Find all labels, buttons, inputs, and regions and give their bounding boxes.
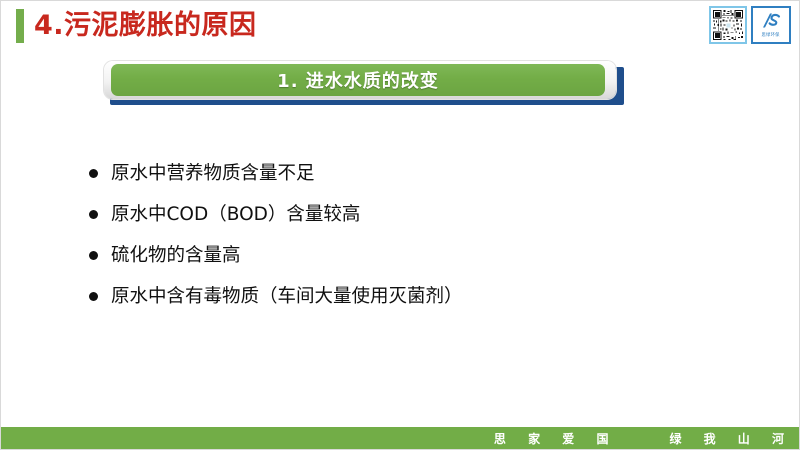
bullet-dot-icon	[89, 169, 98, 178]
bullet-list: 原水中营养物质含量不足 原水中COD（BOD）含量较高 硫化物的含量高 原水中含…	[89, 161, 749, 325]
list-item: 硫化物的含量高	[89, 243, 749, 284]
banner-inner-plate: 1. 进水水质的改变	[104, 61, 616, 99]
footer-slogan-left: 思 家 爱 国	[494, 430, 618, 447]
company-logo-icon	[760, 12, 782, 31]
slide-canvas: 4.污泥膨胀的原因	[0, 0, 800, 450]
list-item: 原水中COD（BOD）含量较高	[89, 202, 749, 243]
list-item-text: 原水中COD（BOD）含量较高	[111, 202, 360, 227]
company-logo-text: 思绿环保	[762, 32, 780, 38]
bullet-dot-icon	[89, 292, 98, 301]
footer-bar: 思 家 爱 国 绿 我 山 河	[1, 427, 800, 449]
section-banner: 1. 进水水质的改变	[104, 61, 624, 105]
qr-code-glyph	[712, 9, 744, 41]
list-item: 原水中含有毒物质（车间大量使用灭菌剂）	[89, 284, 749, 325]
bullet-dot-icon	[89, 210, 98, 219]
banner-green-pill: 1. 进水水质的改变	[111, 64, 605, 96]
title-accent-bar	[16, 9, 24, 43]
company-logo[interactable]: 思绿环保	[751, 6, 791, 44]
banner-title: 1. 进水水质的改变	[277, 67, 439, 93]
page-title-block: 4.污泥膨胀的原因	[16, 9, 257, 43]
footer-slogan-right: 绿 我 山 河	[669, 430, 793, 447]
qr-code-icon[interactable]	[709, 6, 747, 44]
page-title: 4.污泥膨胀的原因	[34, 9, 257, 43]
list-item-text: 原水中营养物质含量不足	[111, 161, 315, 186]
brand-cluster: 思绿环保	[709, 6, 791, 44]
list-item-text: 硫化物的含量高	[111, 243, 241, 268]
list-item-text: 原水中含有毒物质（车间大量使用灭菌剂）	[111, 284, 463, 309]
list-item: 原水中营养物质含量不足	[89, 161, 749, 202]
bullet-dot-icon	[89, 251, 98, 260]
